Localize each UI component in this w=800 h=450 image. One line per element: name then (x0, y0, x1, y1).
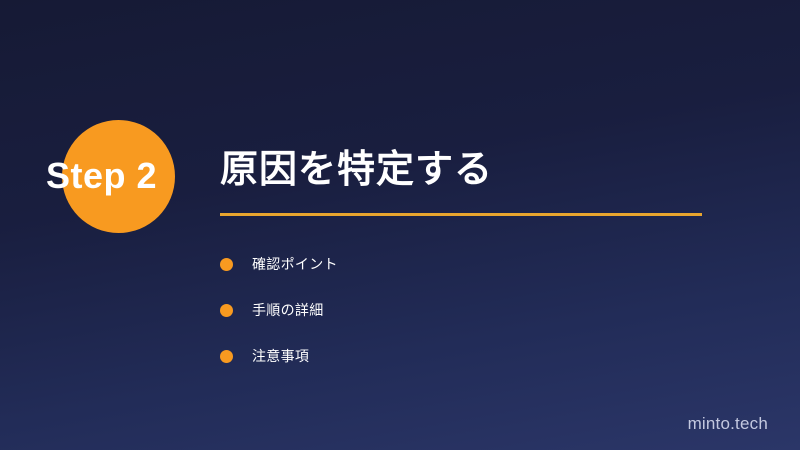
list-item: 確認ポイント (220, 241, 690, 287)
title-divider (220, 213, 702, 216)
list-item-label: 注意事項 (252, 347, 309, 365)
list-item: 手順の詳細 (220, 287, 690, 333)
bullet-list: 確認ポイント 手順の詳細 注意事項 (220, 241, 690, 379)
dot-icon (220, 350, 233, 363)
slide-canvas: Step 2 原因を特定する 確認ポイント 手順の詳細 注意事項 minto.t… (0, 0, 800, 450)
watermark: minto.tech (688, 414, 768, 434)
dot-icon (220, 258, 233, 271)
list-item-label: 手順の詳細 (252, 301, 324, 319)
list-item-label: 確認ポイント (252, 255, 338, 273)
slide-title: 原因を特定する (220, 146, 493, 194)
dot-icon (220, 304, 233, 317)
step-badge-label: Step 2 (46, 153, 206, 199)
list-item: 注意事項 (220, 333, 690, 379)
